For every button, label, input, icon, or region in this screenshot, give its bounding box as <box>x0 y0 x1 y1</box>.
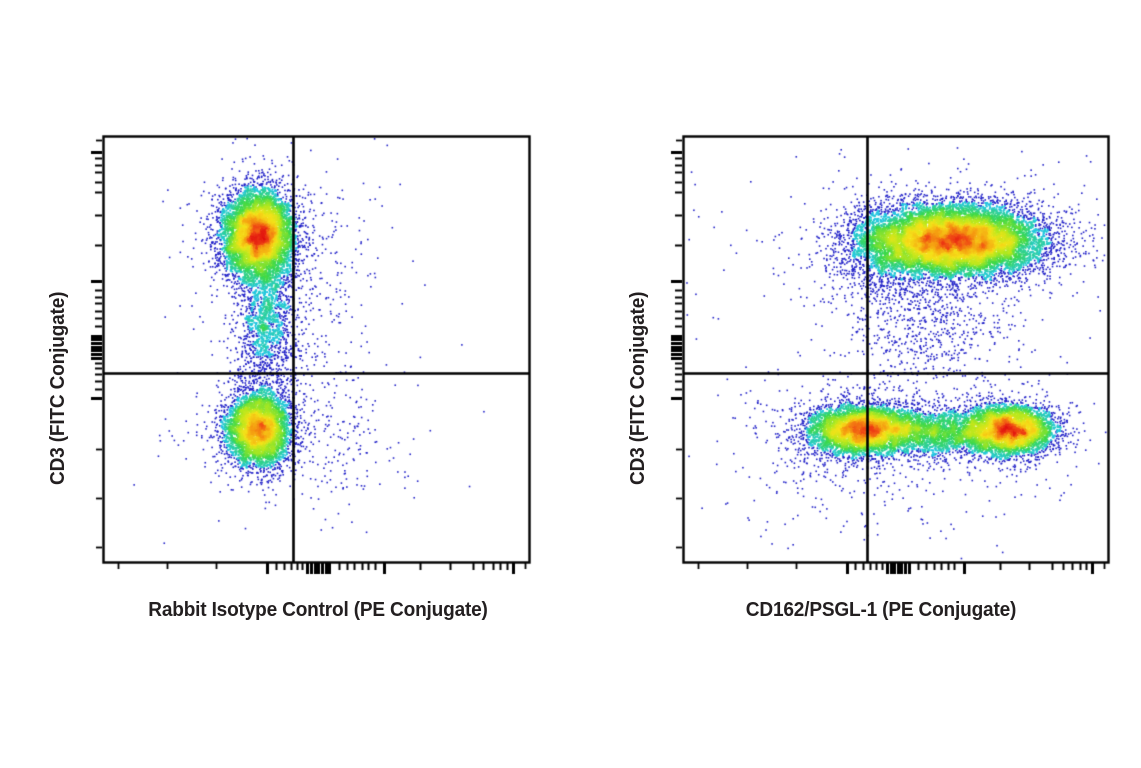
panel-cd162-psgl1: CD3 (FITC Conjugate) CD162/PSGL-1 (PE Co… <box>581 0 1141 660</box>
flow-cytometry-figure: CD3 (FITC Conjugate) Rabbit Isotype Cont… <box>0 0 1141 768</box>
x-axis-label-panel2: CD162/PSGL-1 (PE Conjugate) <box>644 598 1118 622</box>
panel-isotype-control: CD3 (FITC Conjugate) Rabbit Isotype Cont… <box>0 0 560 660</box>
dot-plot-canvas-cd162-psgl1 <box>581 0 1141 660</box>
dot-plot-canvas-isotype-control <box>0 0 560 660</box>
y-axis-label-panel2: CD3 (FITC Conjugate) <box>626 292 650 485</box>
y-axis-label-panel1: CD3 (FITC Conjugate) <box>46 292 70 485</box>
x-axis-label-panel1: Rabbit Isotype Control (PE Conjugate) <box>81 598 555 622</box>
